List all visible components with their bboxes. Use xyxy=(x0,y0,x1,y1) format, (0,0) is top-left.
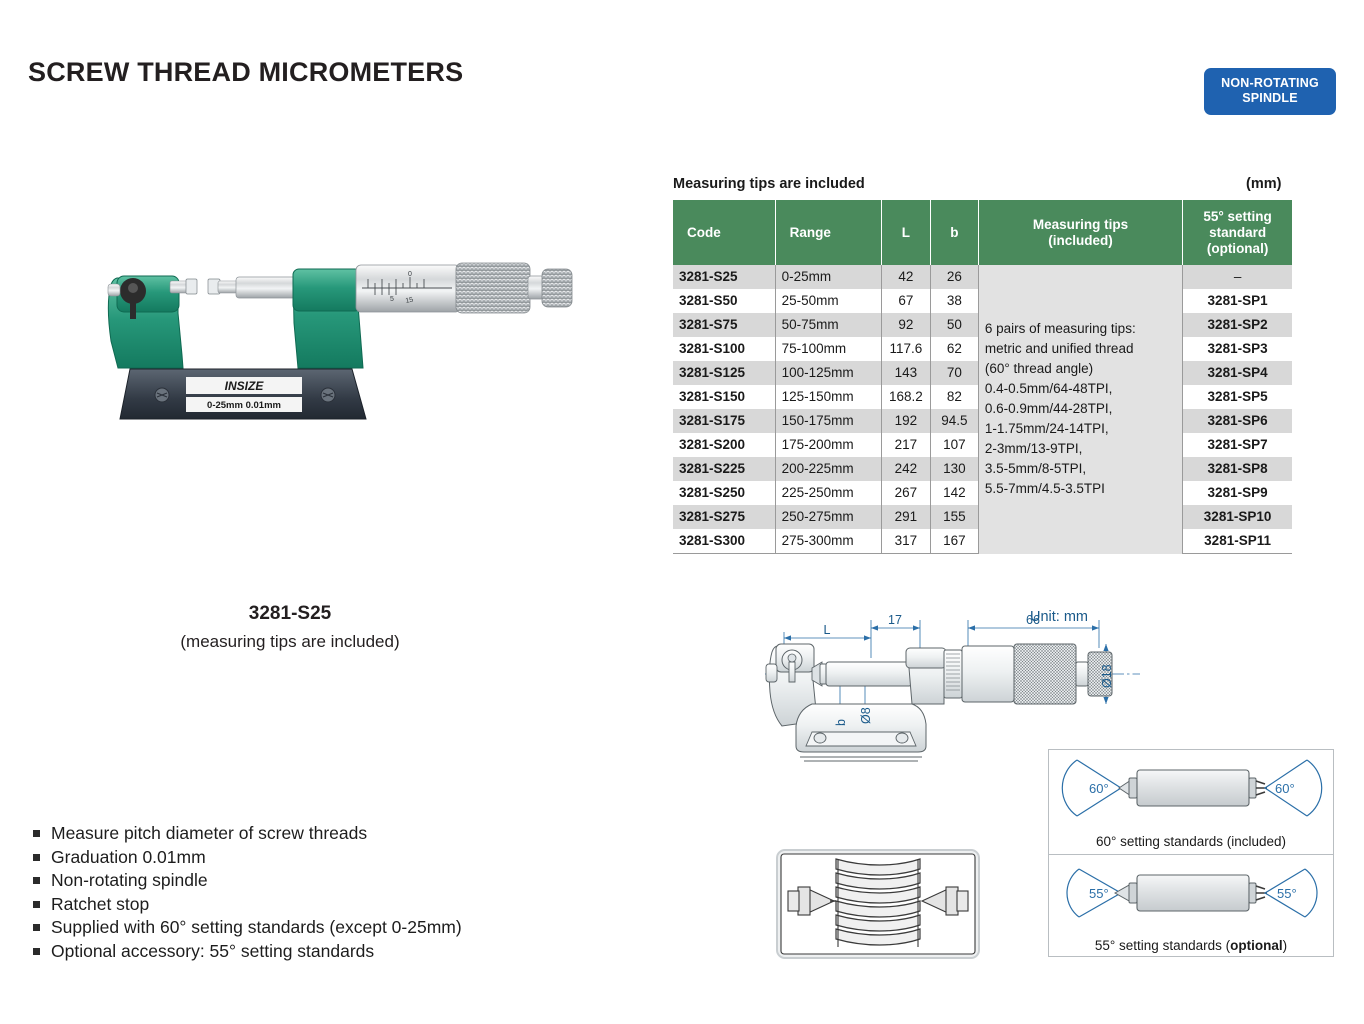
cell-l: 317 xyxy=(881,529,930,554)
tips-line: 2-3mm/13-9TPI, xyxy=(985,441,1083,456)
cell-range: 0-25mm xyxy=(775,265,881,289)
column-header-std-line1: 55° setting xyxy=(1203,209,1271,224)
tips-line: metric and unified thread xyxy=(985,341,1134,356)
column-header-tips-line2: (included) xyxy=(1048,233,1113,248)
cell-b: 155 xyxy=(930,505,978,529)
tips-line: 1-1.75mm/24-14TPI, xyxy=(985,421,1109,436)
cell-b: 94.5 xyxy=(930,409,978,433)
dim-label-d8: Ø8 xyxy=(859,707,873,724)
setting-standards-panel: 60° 60° 60° setting standards (included) xyxy=(1048,749,1334,957)
cell-setting-standard: 3281-SP2 xyxy=(1183,313,1292,337)
cell-b: 107 xyxy=(930,433,978,457)
table-row: 3281-S25 0-25mm 42 26 6 pairs of measuri… xyxy=(673,265,1292,289)
cell-l: 291 xyxy=(881,505,930,529)
cell-setting-standard: 3281-SP8 xyxy=(1183,457,1292,481)
list-item: Non-rotating spindle xyxy=(33,871,462,890)
setting-standard-optional: 55° 55° 55° setting standards (optional) xyxy=(1049,854,1333,958)
thread-measurement-illustration xyxy=(776,849,980,959)
table-title: Measuring tips are included xyxy=(673,176,865,192)
cell-l: 67 xyxy=(881,289,930,313)
product-photo: 0 5 15 INSIZE 0-25mm 0.01mm xyxy=(90,243,590,583)
cell-code: 3281-S300 xyxy=(673,529,775,554)
column-header-range: Range xyxy=(775,200,881,265)
cell-code: 3281-S150 xyxy=(673,385,775,409)
cell-setting-standard: 3281-SP10 xyxy=(1183,505,1292,529)
cell-b: 82 xyxy=(930,385,978,409)
dim-label-66: 66 xyxy=(1026,613,1040,627)
badge-line-1: NON-ROTATING xyxy=(1221,76,1319,90)
cell-range: 175-200mm xyxy=(775,433,881,457)
list-item: Measure pitch diameter of screw threads xyxy=(33,824,462,843)
cell-range: 225-250mm xyxy=(775,481,881,505)
cell-b: 62 xyxy=(930,337,978,361)
cell-code: 3281-S100 xyxy=(673,337,775,361)
cell-range: 250-275mm xyxy=(775,505,881,529)
cell-l: 242 xyxy=(881,457,930,481)
cell-b: 38 xyxy=(930,289,978,313)
cell-code: 3281-S25 xyxy=(673,265,775,289)
standard-60-diagram: 60° 60° xyxy=(1049,750,1335,828)
cell-setting-standard: 3281-SP1 xyxy=(1183,289,1292,313)
cell-setting-standard: – xyxy=(1183,265,1292,289)
cell-code: 3281-S50 xyxy=(673,289,775,313)
standard-55-diagram: 55° 55° xyxy=(1049,855,1335,933)
column-header-std-line2: standard xyxy=(1209,225,1266,240)
table-unit-label: (mm) xyxy=(1246,176,1281,192)
cell-range: 125-150mm xyxy=(775,385,881,409)
angle-label-left-60: 60° xyxy=(1089,781,1109,796)
angle-label-right-60: 60° xyxy=(1275,781,1295,796)
cell-b: 70 xyxy=(930,361,978,385)
column-header-l: L xyxy=(881,200,930,265)
cell-code: 3281-S175 xyxy=(673,409,775,433)
column-header-code: Code xyxy=(673,200,775,265)
square-bullet-icon xyxy=(33,854,40,861)
standard-optional-caption-post: ) xyxy=(1283,938,1288,953)
thread-diagram xyxy=(778,851,978,957)
cell-setting-standard: 3281-SP4 xyxy=(1183,361,1292,385)
cell-setting-standard: 3281-SP7 xyxy=(1183,433,1292,457)
cell-b: 142 xyxy=(930,481,978,505)
brand-label: INSIZE xyxy=(225,379,265,393)
product-sub-caption: (measuring tips are included) xyxy=(50,632,530,652)
dim-label-17: 17 xyxy=(888,613,902,627)
tips-line: 5.5-7mm/4.5-3.5TPI xyxy=(985,481,1105,496)
cell-l: 267 xyxy=(881,481,930,505)
feature-label: Ratchet stop xyxy=(51,895,149,914)
cell-setting-standard: 3281-SP5 xyxy=(1183,385,1292,409)
cell-l: 168.2 xyxy=(881,385,930,409)
feature-label: Graduation 0.01mm xyxy=(51,848,206,867)
column-header-setting-standard: 55° setting standard (optional) xyxy=(1183,200,1292,265)
cell-code: 3281-S275 xyxy=(673,505,775,529)
standard-optional-caption-bold: optional xyxy=(1230,938,1283,953)
micrometer-illustration: 0 5 15 INSIZE 0-25mm 0.01mm xyxy=(90,243,590,443)
dim-label-L: L xyxy=(824,623,831,637)
cell-b: 167 xyxy=(930,529,978,554)
cell-range: 100-125mm xyxy=(775,361,881,385)
cell-range: 200-225mm xyxy=(775,457,881,481)
tips-line: 0.6-0.9mm/44-28TPI, xyxy=(985,401,1113,416)
dim-label-d18: Ø18 xyxy=(1100,664,1114,688)
square-bullet-icon xyxy=(33,830,40,837)
cell-code: 3281-S225 xyxy=(673,457,775,481)
tips-line: 0.4-0.5mm/64-48TPI, xyxy=(985,381,1113,396)
cell-setting-standard: 3281-SP3 xyxy=(1183,337,1292,361)
svg-text:0: 0 xyxy=(408,271,412,278)
square-bullet-icon xyxy=(33,924,40,931)
cell-l: 92 xyxy=(881,313,930,337)
angle-label-right-55: 55° xyxy=(1277,886,1297,901)
dim-label-b: b xyxy=(834,719,848,726)
cell-l: 217 xyxy=(881,433,930,457)
table-header-row: Code Range L b Measuring tips (included)… xyxy=(673,200,1292,265)
cell-l: 117.6 xyxy=(881,337,930,361)
cell-l: 42 xyxy=(881,265,930,289)
svg-text:5: 5 xyxy=(390,296,394,303)
cell-range: 50-75mm xyxy=(775,313,881,337)
setting-standard-included: 60° 60° 60° setting standards (included) xyxy=(1049,750,1333,854)
cell-l: 192 xyxy=(881,409,930,433)
cell-range: 75-100mm xyxy=(775,337,881,361)
feature-label: Supplied with 60° setting standards (exc… xyxy=(51,918,462,937)
column-header-tips-line1: Measuring tips xyxy=(1033,217,1128,232)
catalog-page: SCREW THREAD MICROMETERS NON-ROTATING SP… xyxy=(0,0,1364,1024)
angle-label-left-55: 55° xyxy=(1089,886,1109,901)
feature-label: Non-rotating spindle xyxy=(51,871,208,890)
standard-included-caption: 60° setting standards (included) xyxy=(1049,834,1333,849)
tips-line: 6 pairs of measuring tips: xyxy=(985,321,1136,336)
cell-code: 3281-S200 xyxy=(673,433,775,457)
range-label: 0-25mm 0.01mm xyxy=(207,400,281,411)
cell-b: 26 xyxy=(930,265,978,289)
cell-setting-standard: 3281-SP9 xyxy=(1183,481,1292,505)
cell-range: 150-175mm xyxy=(775,409,881,433)
standard-optional-caption-pre: 55° setting standards ( xyxy=(1095,938,1230,953)
list-item: Graduation 0.01mm xyxy=(33,848,462,867)
specification-table: Code Range L b Measuring tips (included)… xyxy=(673,200,1292,554)
cell-code: 3281-S125 xyxy=(673,361,775,385)
list-item: Optional accessory: 55° setting standard… xyxy=(33,942,462,961)
cell-range: 25-50mm xyxy=(775,289,881,313)
tips-line: 3.5-5mm/8-5TPI, xyxy=(985,461,1086,476)
status-badge: NON-ROTATING SPINDLE xyxy=(1204,68,1336,115)
list-item: Supplied with 60° setting standards (exc… xyxy=(33,918,462,937)
cell-code: 3281-S250 xyxy=(673,481,775,505)
cell-l: 143 xyxy=(881,361,930,385)
product-code-caption: 3281-S25 xyxy=(90,603,490,625)
feature-label: Measure pitch diameter of screw threads xyxy=(51,824,367,843)
list-item: Ratchet stop xyxy=(33,895,462,914)
cell-setting-standard: 3281-SP6 xyxy=(1183,409,1292,433)
feature-list: Measure pitch diameter of screw threads … xyxy=(33,824,462,965)
standard-optional-caption: 55° setting standards (optional) xyxy=(1049,938,1333,953)
square-bullet-icon xyxy=(33,948,40,955)
square-bullet-icon xyxy=(33,901,40,908)
page-title: SCREW THREAD MICROMETERS xyxy=(28,57,463,88)
column-header-measuring-tips: Measuring tips (included) xyxy=(978,200,1182,265)
column-header-std-line3: (optional) xyxy=(1207,241,1268,256)
cell-setting-standard: 3281-SP11 xyxy=(1183,529,1292,554)
cell-b: 50 xyxy=(930,313,978,337)
cell-range: 275-300mm xyxy=(775,529,881,554)
tips-line: (60° thread angle) xyxy=(985,361,1093,376)
cell-b: 130 xyxy=(930,457,978,481)
square-bullet-icon xyxy=(33,877,40,884)
badge-line-2: SPINDLE xyxy=(1242,91,1298,105)
feature-label: Optional accessory: 55° setting standard… xyxy=(51,942,374,961)
column-header-b: b xyxy=(930,200,978,265)
cell-measuring-tips: 6 pairs of measuring tips: metric and un… xyxy=(978,265,1182,554)
cell-code: 3281-S75 xyxy=(673,313,775,337)
